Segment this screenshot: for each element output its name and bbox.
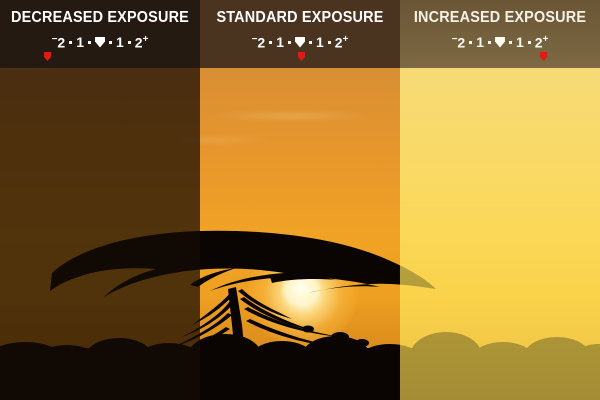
scale-minus-one: 1 [276,35,284,49]
scale-minus-two: −2 [252,35,266,50]
scale-plus-two: 2+ [335,35,349,50]
panel-title: INCREASED EXPOSURE [407,0,593,27]
scale-plus-one: 1 [116,35,124,49]
scale-tick [69,41,72,44]
scale-tick [128,41,131,44]
exposure-scale[interactable]: −2 1 1 2+ [200,33,400,51]
panel-title: DECREASED EXPOSURE [7,0,193,27]
scale-tick [309,41,312,44]
scale-center-marker-icon [295,37,305,48]
scale-minus-one: 1 [76,35,84,49]
panel-standard-exposure: STANDARD EXPOSURE −2 1 1 2+ [200,0,400,400]
scale-tick [509,41,512,44]
scale-tick [88,41,91,44]
panel-title: STANDARD EXPOSURE [207,0,393,27]
cloud-wisps-lower [180,90,200,160]
header-decreased: DECREASED EXPOSURE −2 1 1 2+ [0,0,200,68]
scale-minus-one: 1 [476,35,484,49]
panel-increased-exposure: INCREASED EXPOSURE −2 1 1 2+ [400,0,600,400]
panel-decreased-exposure: DECREASED EXPOSURE −2 1 1 2+ [0,0,200,400]
scale-minus-two: −2 [452,35,466,50]
scale-plus-one: 1 [516,35,524,49]
foreground-ground [200,348,400,400]
scale-tick [469,41,472,44]
scale-center-marker-icon [95,37,105,48]
scale-minus-two: −2 [52,35,66,50]
scale-plus-two: 2+ [535,35,549,50]
exposure-scale[interactable]: −2 1 1 2+ [0,33,200,51]
foreground-ground [400,348,600,400]
cloud-wisps-lower [400,90,480,160]
scale-plus-two: 2+ [135,35,149,50]
scale-tick [109,41,112,44]
foreground-ground [0,348,200,400]
scale-center-marker-icon [495,37,505,48]
scale-tick [528,41,531,44]
scale-tick [269,41,272,44]
header-increased: INCREASED EXPOSURE −2 1 1 2+ [400,0,600,68]
scale-tick [328,41,331,44]
scale-tick [488,41,491,44]
exposure-scale[interactable]: −2 1 1 2+ [400,33,600,51]
cloud-wisps-lower [200,90,400,160]
exposure-comparison-image: DECREASED EXPOSURE −2 1 1 2+ [0,0,600,400]
scale-plus-one: 1 [316,35,324,49]
scale-tick [288,41,291,44]
